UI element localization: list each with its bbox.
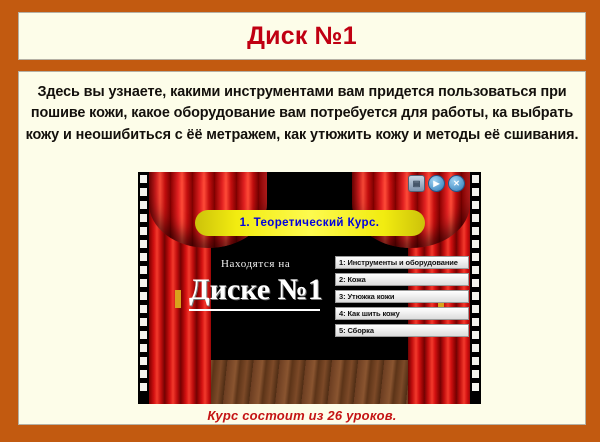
film-sprocket-hole [140, 292, 147, 300]
film-sprocket-hole [140, 305, 147, 313]
film-strip-right [470, 172, 481, 404]
page-root: Диск №1 Здесь вы узнаете, какими инструм… [0, 0, 600, 442]
film-sprocket-hole [140, 279, 147, 287]
film-sprocket-hole [140, 383, 147, 391]
film-sprocket-hole [472, 214, 479, 222]
embedded-screenshot: ▤ ▶ ✕ 1. Теоретический Курс. Находятся н… [138, 172, 481, 404]
lesson-menu-item[interactable]: 4: Как шить кожу [335, 307, 469, 320]
film-sprocket-hole [140, 357, 147, 365]
lesson-menu-item[interactable]: 1: Инструменты и оборудование [335, 256, 469, 269]
film-sprocket-hole [472, 266, 479, 274]
content-panel: Здесь вы узнаете, какими инструментами в… [18, 71, 586, 425]
film-sprocket-hole [140, 370, 147, 378]
film-sprocket-hole [140, 214, 147, 222]
film-sprocket-hole [472, 240, 479, 248]
screenshot-icon[interactable]: ▤ [409, 176, 424, 191]
film-sprocket-hole [140, 331, 147, 339]
intro-paragraph: Здесь вы узнаете, какими инструментами в… [25, 82, 579, 146]
film-sprocket-hole [140, 318, 147, 326]
film-sprocket-hole [140, 266, 147, 274]
curtain-tie-left [175, 290, 181, 308]
film-sprocket-hole [472, 227, 479, 235]
page-title: Диск №1 [247, 24, 357, 49]
footer-note: Курс состоит из 26 уроков. [19, 408, 585, 423]
film-sprocket-hole [472, 292, 479, 300]
film-sprocket-hole [472, 383, 479, 391]
play-icon[interactable]: ▶ [429, 176, 444, 191]
lesson-menu: 1: Инструменты и оборудование 2: Кожа 3:… [335, 256, 469, 341]
film-sprocket-hole [140, 344, 147, 352]
film-sprocket-hole [140, 175, 147, 183]
film-sprocket-hole [472, 305, 479, 313]
film-sprocket-hole [472, 370, 479, 378]
film-sprocket-hole [472, 188, 479, 196]
film-sprocket-hole [472, 175, 479, 183]
film-sprocket-hole [472, 357, 479, 365]
stage-area: ▤ ▶ ✕ 1. Теоретический Курс. Находятся н… [149, 172, 470, 404]
located-label: Находятся на [221, 258, 290, 270]
disk-heading-underline [189, 309, 320, 311]
course-banner-label: 1. Теоретический Курс. [240, 217, 380, 229]
film-sprocket-hole [140, 240, 147, 248]
film-sprocket-hole [140, 188, 147, 196]
disk-heading: Диске №1 [189, 275, 323, 305]
close-icon[interactable]: ✕ [449, 176, 464, 191]
lesson-menu-item[interactable]: 2: Кожа [335, 273, 469, 286]
film-sprocket-hole [472, 344, 479, 352]
film-sprocket-hole [472, 318, 479, 326]
film-sprocket-hole [140, 201, 147, 209]
film-sprocket-hole [472, 201, 479, 209]
film-sprocket-hole [140, 253, 147, 261]
title-panel: Диск №1 [18, 12, 586, 60]
film-sprocket-hole [472, 331, 479, 339]
lesson-menu-item[interactable]: 5: Сборка [335, 324, 469, 337]
film-sprocket-hole [140, 227, 147, 235]
film-sprocket-hole [472, 279, 479, 287]
film-strip-left [138, 172, 149, 404]
course-banner[interactable]: 1. Теоретический Курс. [195, 210, 425, 236]
lesson-menu-item[interactable]: 3: Утюжка кожи [335, 290, 469, 303]
film-sprocket-hole [472, 253, 479, 261]
window-controls: ▤ ▶ ✕ [409, 176, 464, 191]
